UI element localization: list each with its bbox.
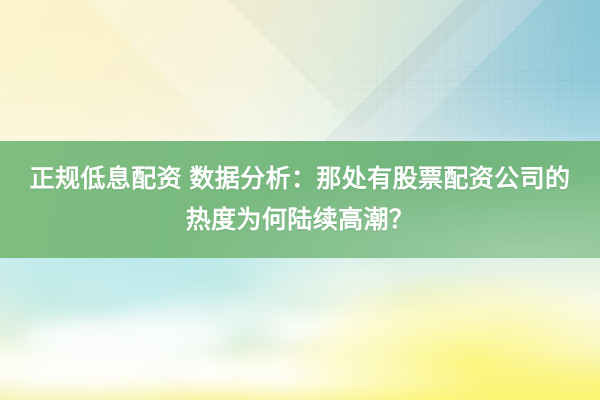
diagonal-wedge-shadow [241,0,600,142]
cloud-shape [330,338,520,372]
headline-band: 正规低息配资 数据分析：那处有股票配资公司的热度为何陆续高潮？ [0,141,600,258]
top-gradient-panel [0,0,600,142]
diagonal-wedge-back [146,0,570,130]
cloud-shape [120,300,300,334]
cloud-shape [265,310,505,350]
article-banner: 正规低息配资 数据分析：那处有股票配资公司的热度为何陆续高潮？ [0,0,600,400]
cloud-shape [470,328,600,364]
cloud-shape [240,270,400,298]
cloud-shape [0,346,230,392]
diagonal-wedge-light [82,0,549,142]
page-title: 正规低息配资 数据分析：那处有股票配资公司的热度为何陆续高潮？ [18,159,582,241]
sky-gradient-panel [0,258,600,400]
cloud-shape [430,288,600,336]
cloud-shape [180,354,480,394]
cloud-shape [60,276,210,302]
data-table-watermark [250,0,600,142]
cloud-shape [20,316,230,360]
